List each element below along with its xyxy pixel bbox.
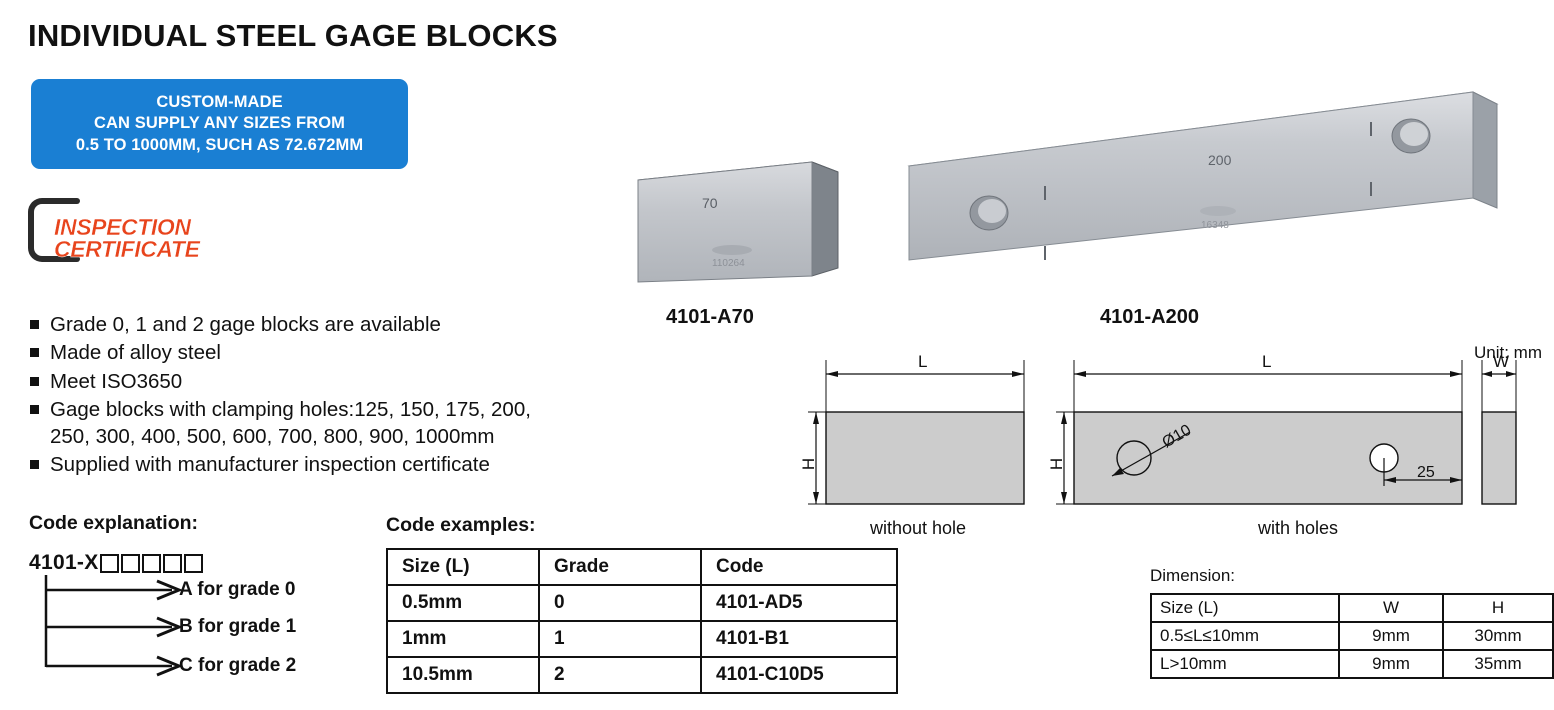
drawing-side-view (1482, 360, 1516, 504)
code-pattern-prefix: 4101-X (29, 551, 99, 575)
table-header-row: Size (L)GradeCode (387, 549, 897, 585)
bullet-square-icon (30, 405, 39, 414)
table-cell: 2 (539, 657, 701, 693)
table-cell: 9mm (1339, 622, 1443, 650)
feature-item-label: Grade 0, 1 and 2 gage blocks are availab… (50, 312, 441, 338)
code-pattern: 4101-X (29, 551, 379, 575)
feature-item-label: Supplied with manufacturer inspection ce… (50, 452, 490, 478)
engraved-size: 70 (702, 195, 718, 211)
code-pattern-boxes (100, 554, 205, 573)
product-caption-small: 4101-A70 (666, 306, 754, 329)
table-cell: 30mm (1443, 622, 1553, 650)
code-pattern-box (121, 554, 140, 573)
drawing-without-hole (808, 360, 1024, 504)
engraved-size: 200 (1208, 152, 1232, 168)
feature-item-label: Meet ISO3650 (50, 369, 182, 395)
bullet-square-icon (30, 348, 39, 357)
grade-arrow-label: B for grade 1 (179, 616, 296, 638)
code-pattern-box (184, 554, 203, 573)
column-header: Grade (539, 549, 701, 585)
product-photo-4101-a200: 200 16348 (893, 88, 1503, 298)
code-explanation-heading: Code explanation: (29, 512, 379, 535)
bullet-square-icon (30, 377, 39, 386)
table-row: 1mm14101-B1 (387, 621, 897, 657)
feature-list: Grade 0, 1 and 2 gage blocks are availab… (30, 312, 650, 481)
code-examples-table: Size (L)GradeCode 0.5mm04101-AD51mm14101… (386, 548, 898, 694)
table-cell: 4101-C10D5 (701, 657, 897, 693)
table-row: 0.5≤L≤10mm9mm30mm (1151, 622, 1553, 650)
table-cell: 35mm (1443, 650, 1553, 678)
inspection-logo-line-2: CERTIFICATE (54, 238, 200, 260)
column-header: Size (L) (1151, 594, 1339, 622)
table-row: L>10mm9mm35mm (1151, 650, 1553, 678)
table-cell: 0.5mm (387, 585, 539, 621)
dimension-table: Size (L)WH 0.5≤L≤10mm9mm30mmL>10mm9mm35m… (1150, 593, 1554, 679)
dim-label-H-without: H (800, 458, 818, 470)
table-cell: 9mm (1339, 650, 1443, 678)
catalog-page: INDIVIDUAL STEEL GAGE BLOCKS CUSTOM-MADE… (0, 0, 1554, 710)
table-row: 0.5mm04101-AD5 (387, 585, 897, 621)
feature-item: Supplied with manufacturer inspection ce… (30, 452, 650, 478)
code-grade-arrows: A for grade 0B for grade 1C for grade 2 (29, 575, 379, 685)
feature-item: Made of alloy steel (30, 340, 650, 366)
grade-arrow-lines (29, 575, 189, 685)
table-cell: 1 (539, 621, 701, 657)
feature-item: Meet ISO3650 (30, 369, 650, 395)
grade-arrow-label: A for grade 0 (179, 579, 296, 601)
bullet-square-icon (30, 460, 39, 469)
bullet-square-icon (30, 320, 39, 329)
table-cell: 10.5mm (387, 657, 539, 693)
dim-label-L-with: L (1262, 352, 1271, 371)
banner-line-1: CUSTOM-MADE (156, 92, 282, 113)
column-header: W (1339, 594, 1443, 622)
custom-made-banner: CUSTOM-MADE CAN SUPPLY ANY SIZES FROM 0.… (31, 79, 408, 169)
engraved-serial: 16348 (1201, 220, 1229, 231)
column-header: Code (701, 549, 897, 585)
unit-label: Unit: mm (1474, 343, 1542, 363)
code-explanation-section: Code explanation: 4101-X A for grade 0B … (29, 512, 379, 685)
inspection-logo-line-1: INSPECTION (54, 216, 200, 238)
drawing-caption-with-holes: with holes (1258, 518, 1338, 539)
table-cell: L>10mm (1151, 650, 1339, 678)
code-pattern-box (163, 554, 182, 573)
product-photo-4101-a70: 70 110264 (630, 150, 850, 300)
code-pattern-box (142, 554, 161, 573)
dim-label-L-without: L (918, 352, 927, 371)
feature-item-label: Gage blocks with clamping holes:125, 150… (50, 397, 531, 450)
table-cell: 0.5≤L≤10mm (1151, 622, 1339, 650)
table-cell: 4101-B1 (701, 621, 897, 657)
dim-label-H-with: H (1047, 458, 1066, 470)
dimension-heading: Dimension: (1150, 566, 1554, 586)
engraved-serial: 110264 (712, 258, 745, 269)
inspection-certificate-logo: INSPECTION CERTIFICATE (26, 196, 256, 270)
grade-arrow-label: C for grade 2 (179, 655, 296, 677)
column-header: H (1443, 594, 1553, 622)
banner-line-2: CAN SUPPLY ANY SIZES FROM (94, 113, 345, 134)
product-caption-large: 4101-A200 (1100, 306, 1199, 329)
table-header-row: Size (L)WH (1151, 594, 1553, 622)
banner-line-3: 0.5 TO 1000MM, SUCH AS 72.672MM (76, 135, 363, 156)
table-cell: 0 (539, 585, 701, 621)
drawing-with-holes (1056, 360, 1462, 504)
inspection-logo-text: INSPECTION CERTIFICATE (54, 216, 200, 261)
feature-item: Grade 0, 1 and 2 gage blocks are availab… (30, 312, 650, 338)
dimension-section: Dimension: Size (L)WH 0.5≤L≤10mm9mm30mmL… (1150, 566, 1554, 679)
table-row: 10.5mm24101-C10D5 (387, 657, 897, 693)
table-cell: 4101-AD5 (701, 585, 897, 621)
dim-label-hole-offset: 25 (1417, 464, 1435, 481)
code-pattern-box (100, 554, 119, 573)
feature-item: Gage blocks with clamping holes:125, 150… (30, 397, 650, 450)
column-header: Size (L) (387, 549, 539, 585)
table-cell: 1mm (387, 621, 539, 657)
page-title: INDIVIDUAL STEEL GAGE BLOCKS (28, 18, 558, 54)
feature-item-label: Made of alloy steel (50, 340, 221, 366)
drawing-caption-without-hole: without hole (870, 518, 966, 539)
